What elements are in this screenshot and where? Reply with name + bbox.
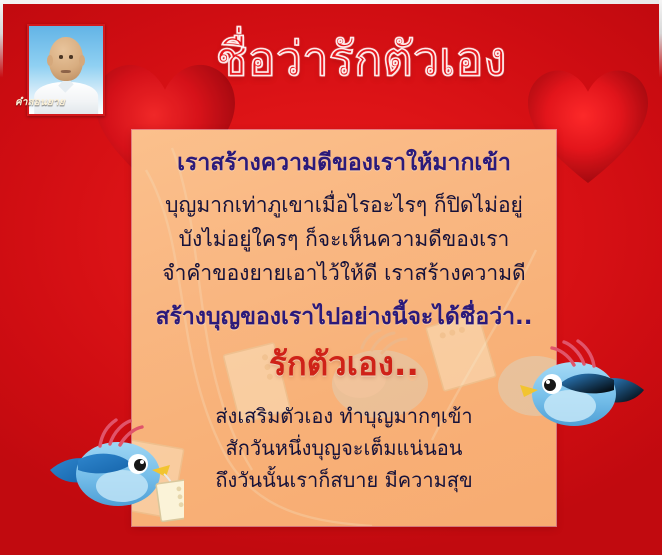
panel-tail-line-1: ส่งเสริมตัวเอง ทำบุญมากๆเข้า bbox=[144, 400, 544, 432]
left-edge-highlight bbox=[0, 0, 3, 555]
panel-body-line-1: บุญมากเท่าภูเขาเมื่อไรอะไรๆ ก็ปิดไม่อยู่ bbox=[144, 190, 544, 222]
message-content: เราสร้างความดีของเราให้มากเข้า บุญมากเท่… bbox=[132, 130, 556, 497]
portrait-caption: คำสอนยาย bbox=[0, 95, 82, 110]
panel-body-line-3: จำคำของยายเอาไว้ให้ดี เราสร้างความดี bbox=[144, 258, 544, 290]
panel-tail-line-3: ถึงวันนั้นเราก็สบาย มีความสุข bbox=[144, 464, 544, 496]
panel-emphasis-line: สร้างบุญของเราไปอย่างนี้จะได้ชื่อว่า.. bbox=[144, 301, 544, 334]
page-title: ชื่อว่ารักตัวเอง bbox=[0, 34, 662, 87]
panel-body-line-2: บังไม่อยู่ใครๆ ก็จะเห็นความดีของเรา bbox=[144, 224, 544, 256]
panel-highlight-line: รักตัวเอง.. bbox=[144, 343, 544, 386]
panel-heading: เราสร้างความดีของเราให้มากเข้า bbox=[144, 148, 544, 180]
message-panel: เราสร้างความดีของเราให้มากเข้า บุญมากเท่… bbox=[132, 130, 556, 526]
panel-tail-line-2: สักวันหนึ่งบุญจะเต็มแน่นอน bbox=[144, 432, 544, 464]
poster-canvas: คำสอนยาย ชื่อว่ารักตัวเอง bbox=[0, 0, 662, 555]
top-edge-highlight bbox=[0, 0, 662, 4]
